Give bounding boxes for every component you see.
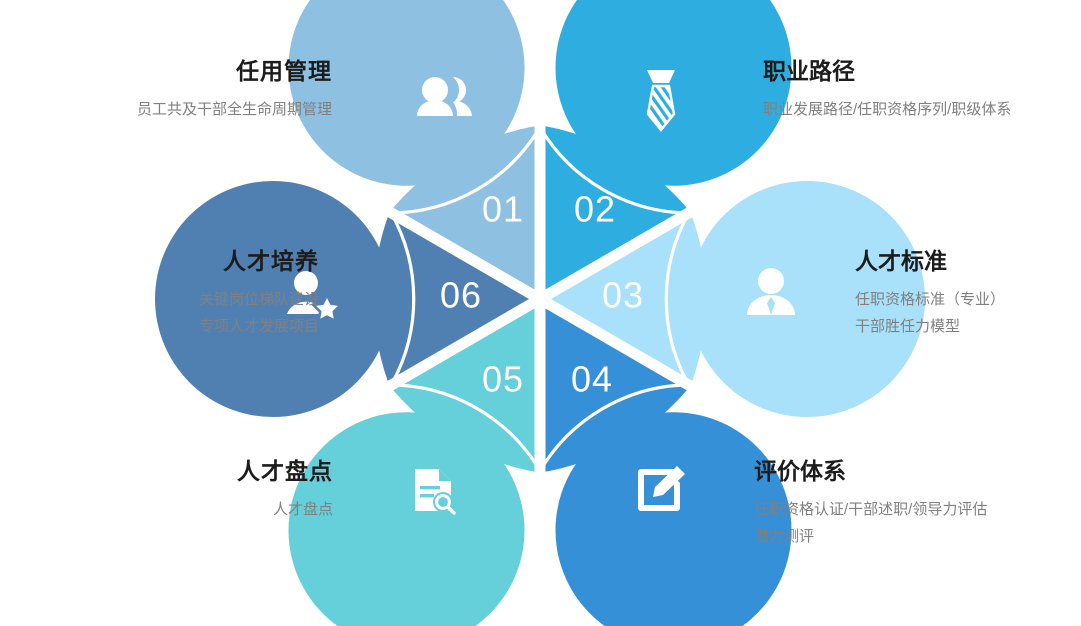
two-people-icon: [417, 77, 472, 116]
label-line-05-0: 人才盘点: [93, 496, 333, 524]
petal-number-06: 06: [440, 275, 482, 316]
petal-number-05: 05: [482, 359, 524, 400]
label-title-06: 人才培养: [59, 248, 319, 276]
label-block-02: 职业路径 职业发展路径/任职资格序列/职级体系: [763, 58, 1073, 123]
label-title-03: 人才标准: [855, 248, 1081, 276]
label-block-01: 任用管理 员工共及干部全生命周期管理: [32, 58, 332, 123]
petal-number-04: 04: [571, 359, 613, 400]
label-title-04: 评价体系: [754, 458, 1079, 486]
label-line-04-1: 潜力测评: [754, 523, 1079, 551]
infographic-diagram: 01 02: [0, 0, 1081, 626]
label-block-03: 人才标准 任职资格标准（专业） 干部胜任力模型: [855, 248, 1081, 341]
petal-number-02: 02: [574, 189, 616, 230]
petal-number-01: 01: [482, 189, 524, 230]
label-line-02-0: 职业发展路径/任职资格序列/职级体系: [763, 96, 1073, 124]
label-block-05: 人才盘点 人才盘点: [93, 458, 333, 523]
label-line-03-0: 任职资格标准（专业）: [855, 286, 1081, 314]
label-title-02: 职业路径: [763, 58, 1073, 86]
label-title-05: 人才盘点: [93, 458, 333, 486]
label-line-04-0: 任职资格认证/干部述职/领导力评估: [754, 496, 1079, 524]
label-block-06: 人才培养 关键岗位梯队建设 专项人才发展项目: [59, 248, 319, 341]
label-block-04: 评价体系 任职资格认证/干部述职/领导力评估 潜力测评: [754, 458, 1079, 551]
label-line-03-1: 干部胜任力模型: [855, 313, 1081, 341]
label-line-01-0: 员工共及干部全生命周期管理: [32, 96, 332, 124]
label-line-06-0: 关键岗位梯队建设: [59, 286, 319, 314]
petal-number-03: 03: [602, 275, 644, 316]
label-title-01: 任用管理: [32, 58, 332, 86]
label-line-06-1: 专项人才发展项目: [59, 313, 319, 341]
